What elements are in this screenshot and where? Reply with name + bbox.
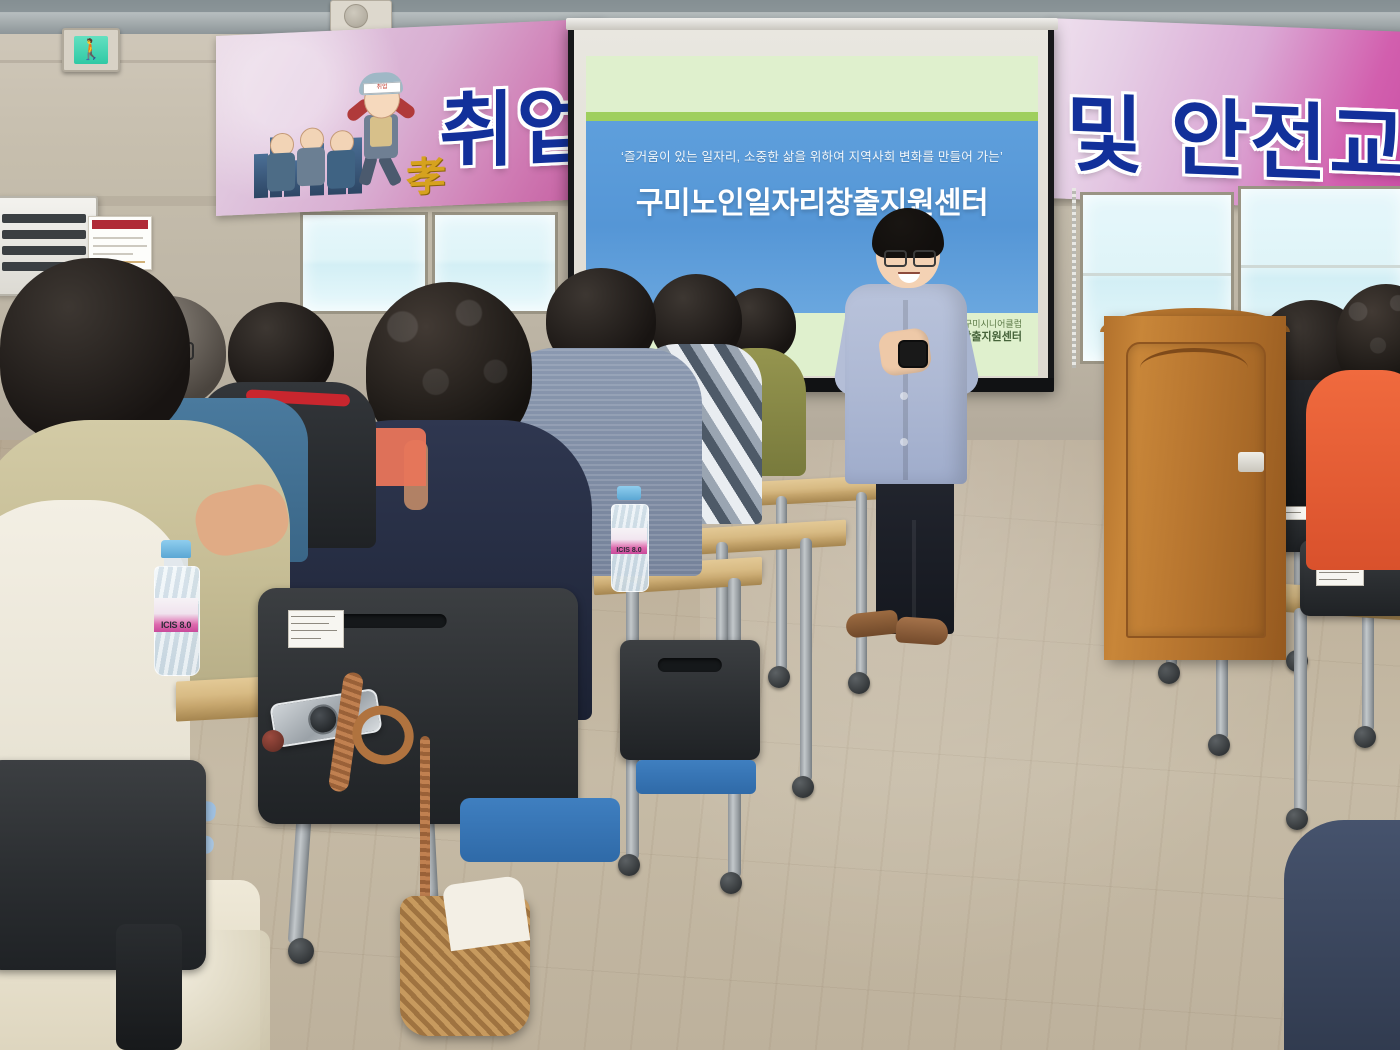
bottle-label-text: ICIS 8.0 [616, 547, 641, 554]
banner-left: 취업 孝 취업 [216, 18, 604, 216]
lecture-room-photo: 🚶 [0, 0, 1400, 1050]
bottle-cap [161, 540, 191, 558]
audience-body-bottom-right [1284, 820, 1400, 1050]
exit-icon: 🚶 [74, 36, 108, 64]
chair-center-1[interactable] [620, 640, 760, 760]
blind-chain[interactable] [1072, 188, 1076, 368]
water-bottle-2[interactable]: ICIS 8.0 [608, 486, 650, 590]
elder-figure-2 [294, 127, 328, 187]
banner-right-text: 및 안전교육 [1066, 67, 1400, 204]
podium[interactable] [1104, 316, 1286, 660]
ceiling-shadow [0, 0, 1400, 12]
projector-lens-icon [344, 4, 368, 28]
presenter-shoe-right [895, 616, 949, 646]
slide-top-band [586, 56, 1038, 114]
slide-subtitle: ‘즐거움이 있는 일자리, 소중한 삶을 위하여 지역사회 변화를 만들어 가는… [586, 146, 1038, 165]
glasses-icon [884, 250, 932, 263]
audience-head-khaki [0, 258, 190, 446]
bag-contents [442, 875, 530, 951]
emergency-exit-sign: 🚶 [62, 28, 120, 72]
chair-label [288, 610, 344, 648]
screen-roller[interactable] [566, 18, 1058, 30]
presenter-shirt-placket [903, 300, 908, 480]
bottle-label: ICIS 8.0 [154, 598, 198, 632]
water-bottle-1[interactable]: ICIS 8.0 [150, 540, 202, 674]
paper-cup[interactable] [1238, 452, 1264, 472]
bottle-cap [617, 486, 641, 500]
mascot-headband-text: 취업 [363, 82, 401, 95]
presenter-smartwatch [898, 340, 928, 368]
chair-post [116, 924, 182, 1050]
slide-accent-rule [586, 112, 1038, 121]
elder-figure-1 [264, 132, 298, 192]
cord-bead [262, 730, 284, 752]
slide-title: 구미노인일자리창출지원센터 [586, 178, 1038, 222]
chair-seat-cushion[interactable] [460, 798, 620, 862]
banner-right: 및 안전교육 [1046, 18, 1400, 212]
bottle-label-text: ICIS 8.0 [161, 620, 191, 630]
bottle-label: ICIS 8.0 [611, 528, 647, 554]
audience-body-right-orange [1306, 370, 1400, 570]
